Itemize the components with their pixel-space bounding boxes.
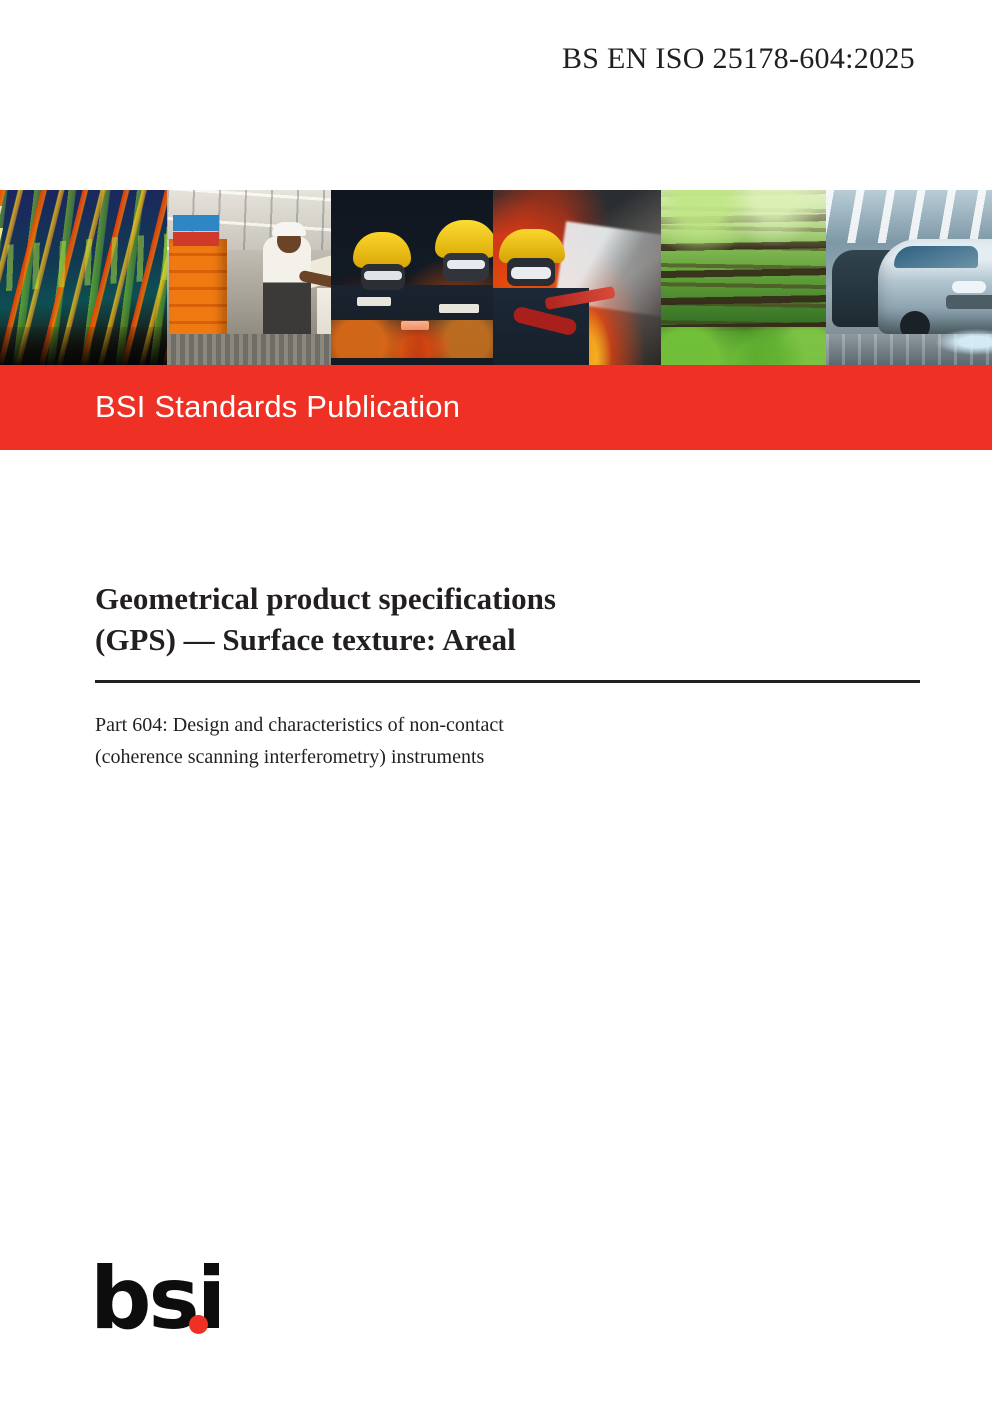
title-divider-rule — [95, 680, 920, 683]
bsi-standards-publication-banner: BSI Standards Publication — [0, 365, 992, 450]
title-line-2: (GPS) — Surface texture: Areal — [95, 619, 920, 660]
subtitle-line-2: (coherence scanning interferometry) inst… — [95, 741, 920, 773]
car-headlight — [952, 281, 986, 293]
photo-panel-firefighters-helmets — [331, 190, 493, 365]
visor-left — [364, 271, 402, 280]
floor-light-reflection — [936, 329, 992, 355]
standard-number-header: BS EN ISO 25178-604:2025 — [0, 42, 915, 76]
title-line-1: Geometrical product specifications — [95, 578, 920, 619]
cover-photo-strip — [0, 190, 992, 365]
photo-panel-firefighter-hose — [493, 190, 660, 365]
title-block: Geometrical product specifications (GPS)… — [95, 578, 920, 773]
bsi-wordmark-text: bsi — [90, 1256, 230, 1342]
bsi-logo: bsi — [90, 1256, 230, 1340]
worker-hard-hat — [272, 222, 306, 236]
document-subtitle: Part 604: Design and characteristics of … — [95, 709, 920, 773]
forest-undergrowth — [661, 327, 827, 366]
yellow-helmet-left — [353, 232, 411, 268]
photo-panel-night-light-trails — [0, 190, 167, 365]
photo-panel-car-assembly-line — [826, 190, 992, 365]
bsi-logo-red-dot — [189, 1315, 208, 1334]
car-windshield — [894, 246, 978, 268]
forest-canopy — [661, 190, 827, 250]
reflective-stripe — [439, 304, 479, 313]
car-grille — [946, 295, 992, 309]
blue-crate — [173, 215, 219, 231]
visor-right — [447, 260, 485, 269]
photo-panel-warehouse-worker — [167, 190, 331, 365]
document-title: Geometrical product specifications (GPS)… — [95, 578, 920, 660]
photo-panel-forest-trees — [661, 190, 827, 365]
fire-embers — [331, 320, 493, 359]
banner-label: BSI Standards Publication — [95, 389, 460, 425]
warehouse-floor — [167, 334, 331, 366]
red-crate — [173, 232, 219, 246]
breathing-mask — [511, 267, 551, 279]
factory-ceiling-lights — [826, 190, 992, 243]
reflective-stripe — [357, 297, 391, 306]
subtitle-line-1: Part 604: Design and characteristics of … — [95, 709, 920, 741]
